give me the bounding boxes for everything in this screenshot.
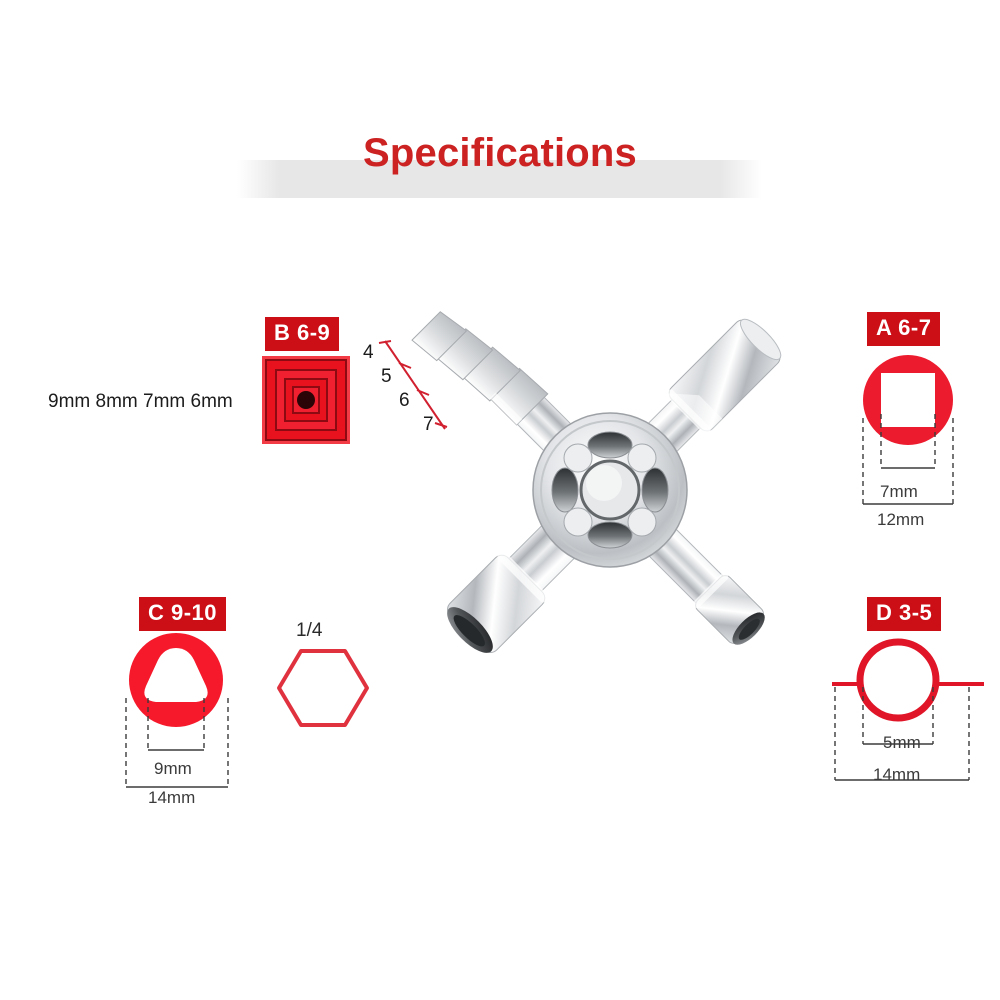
scale-tick-7: 7 <box>423 414 434 436</box>
spec-c-inner-dim: 9mm <box>154 759 192 779</box>
hex-label: 1/4 <box>296 620 322 642</box>
spec-a-tag: A 6-7 <box>866 311 941 347</box>
scale-tick-4: 4 <box>363 342 374 364</box>
scale-tick-6: 6 <box>399 390 410 412</box>
spec-d-tag: D 3-5 <box>866 596 942 632</box>
spec-a-inner-dim: 7mm <box>880 482 918 502</box>
page-title: Specifications <box>0 131 1000 176</box>
hex-diagram <box>275 645 371 731</box>
spec-a-diagram <box>852 352 982 532</box>
spec-d-inner-dim: 5mm <box>883 733 921 753</box>
spec-b-diagram <box>262 356 350 444</box>
spec-d-outer-dim: 14mm <box>873 765 920 785</box>
spec-b-tag: B 6-9 <box>264 316 340 352</box>
spec-d-diagram <box>832 632 992 812</box>
spec-b-sizes: 9mm 8mm 7mm 6mm <box>48 391 233 413</box>
spec-c-outer-dim: 14mm <box>148 788 195 808</box>
scale-tick-5: 5 <box>381 366 392 388</box>
spec-c-tag: C 9-10 <box>138 596 227 632</box>
spec-a-outer-dim: 12mm <box>877 510 924 530</box>
specifications-page: Specifications <box>0 0 1000 1000</box>
spec-c-diagram <box>118 632 258 812</box>
